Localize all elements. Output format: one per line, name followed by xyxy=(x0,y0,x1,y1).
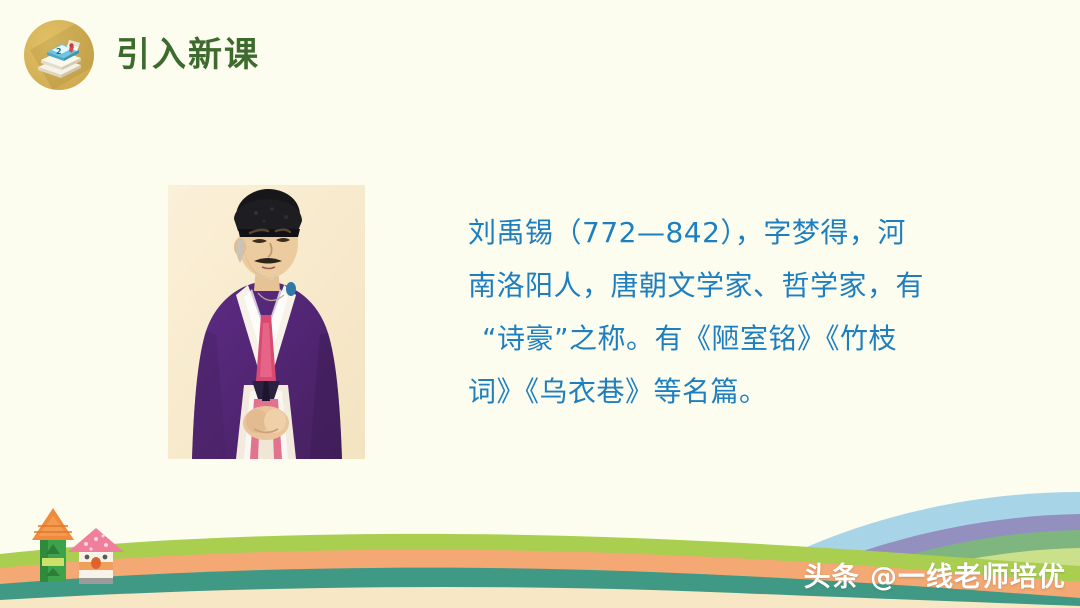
cottage-house-icon xyxy=(68,528,124,584)
books-stack-icon: 2 xyxy=(24,20,94,90)
tower-house-icon xyxy=(32,508,74,582)
portrait-image-liu-yuxi xyxy=(168,185,365,459)
page-title: 引入新课 xyxy=(116,38,260,72)
svg-text:2: 2 xyxy=(56,47,62,56)
biography-text: 刘禹锡（772—842），字梦得，河 南洛阳人，唐朝文学家、哲学家，有 “诗豪”… xyxy=(468,206,920,418)
bio-line-4: 词》《乌衣巷》等名篇。 xyxy=(468,365,920,418)
slide-header: 2 引入新课 xyxy=(24,20,260,90)
bio-line-2: 南洛阳人，唐朝文学家、哲学家，有 xyxy=(468,259,920,312)
bio-line-1: 刘禹锡（772—842），字梦得，河 xyxy=(468,206,920,259)
slide-canvas: 2 引入新课 xyxy=(0,0,1080,608)
decorative-houses xyxy=(20,506,140,586)
bio-line-3: “诗豪”之称。有《陋室铭》《竹枝 xyxy=(468,312,920,365)
watermark-text: 头条 @一线老师培优 xyxy=(804,555,1066,594)
